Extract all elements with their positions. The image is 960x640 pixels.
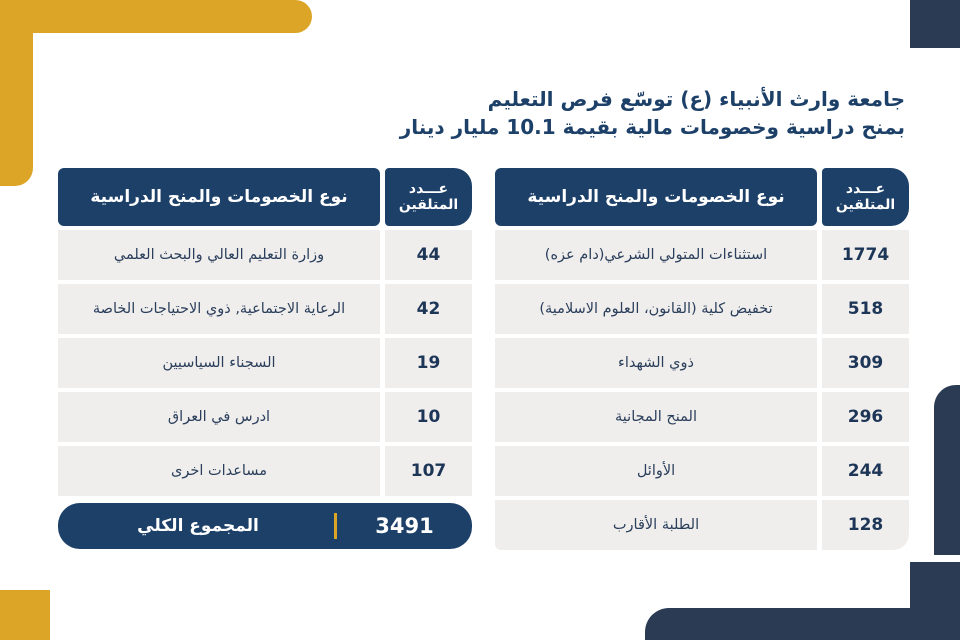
row-count-value: 10 [385, 392, 472, 442]
row-type-label: السجناء السياسيين [58, 338, 380, 388]
row-count-value: 107 [385, 446, 472, 496]
table-left-header-count-line-1: عـــدد [399, 181, 458, 197]
row-count-value: 44 [385, 230, 472, 280]
table-right-header-count-line-1: عـــدد [836, 181, 895, 197]
row-type-label: استثناءات المتولي الشرعي(دام عزه) [495, 230, 817, 280]
infographic-canvas: جامعة وارث الأنبياء (ع) توسّع فرص التعلي… [0, 0, 960, 640]
row-type-label: وزارة التعليم العالي والبحث العلمي [58, 230, 380, 280]
row-count-value: 128 [822, 500, 909, 550]
table-right-header-count-line-2: المتلقين [836, 197, 895, 213]
total-label: المجموع الكلي [58, 516, 334, 536]
table-row: تخفيض كلية (القانون، العلوم الاسلامية) 5… [495, 284, 909, 334]
headline-line-1: جامعة وارث الأنبياء (ع) توسّع فرص التعلي… [285, 86, 905, 114]
table-row: الرعاية الاجتماعية, ذوي الاحتياجات الخاص… [58, 284, 472, 334]
table-left-header-count: عـــدد المتلقين [385, 168, 472, 226]
table-row: المنح المجانية 296 [495, 392, 909, 442]
row-count-value: 1774 [822, 230, 909, 280]
table-row: الأوائل 244 [495, 446, 909, 496]
table-row: ذوي الشهداء 309 [495, 338, 909, 388]
row-type-label: الأوائل [495, 446, 817, 496]
table-row: مساعدات اخرى 107 [58, 446, 472, 496]
table-left-header-count-line-2: المتلقين [399, 197, 458, 213]
row-type-label: الرعاية الاجتماعية, ذوي الاحتياجات الخاص… [58, 284, 380, 334]
decor-navy-top-right [910, 0, 960, 48]
decor-gold-top-left-vertical [0, 0, 33, 186]
headline-line-2: بمنح دراسية وخصومات مالية بقيمة 10.1 ملي… [285, 114, 905, 142]
row-type-label: مساعدات اخرى [58, 446, 380, 496]
decor-navy-right-middle [934, 385, 960, 555]
table-left-header-row: نوع الخصومات والمنح الدراسية عـــدد المت… [58, 168, 472, 226]
table-row: الطلبة الأقارب 128 [495, 500, 909, 550]
row-type-label: ذوي الشهداء [495, 338, 817, 388]
decor-gold-top-left-horizontal [0, 0, 312, 33]
table-row: ادرس في العراق 10 [58, 392, 472, 442]
total-row: المجموع الكلي 3491 [58, 503, 472, 549]
row-type-label: ادرس في العراق [58, 392, 380, 442]
headline: جامعة وارث الأنبياء (ع) توسّع فرص التعلي… [285, 86, 905, 141]
table-row: استثناءات المتولي الشرعي(دام عزه) 1774 [495, 230, 909, 280]
row-type-label: الطلبة الأقارب [495, 500, 817, 550]
row-count-value: 518 [822, 284, 909, 334]
table-row: السجناء السياسيين 19 [58, 338, 472, 388]
table-left: نوع الخصومات والمنح الدراسية عـــدد المت… [58, 168, 472, 549]
row-type-label: المنح المجانية [495, 392, 817, 442]
table-right-header-type: نوع الخصومات والمنح الدراسية [495, 168, 817, 226]
row-count-value: 42 [385, 284, 472, 334]
total-divider [334, 513, 337, 539]
table-right-header-count: عـــدد المتلقين [822, 168, 909, 226]
decor-navy-bottom-right-vertical [910, 562, 960, 640]
decor-gold-bottom-left [0, 590, 50, 640]
row-count-value: 244 [822, 446, 909, 496]
row-count-value: 309 [822, 338, 909, 388]
table-row: وزارة التعليم العالي والبحث العلمي 44 [58, 230, 472, 280]
table-right-header-row: نوع الخصومات والمنح الدراسية عـــدد المت… [495, 168, 909, 226]
row-count-value: 19 [385, 338, 472, 388]
row-count-value: 296 [822, 392, 909, 442]
table-left-header-type: نوع الخصومات والمنح الدراسية [58, 168, 380, 226]
row-type-label: تخفيض كلية (القانون، العلوم الاسلامية) [495, 284, 817, 334]
table-right: نوع الخصومات والمنح الدراسية عـــدد المت… [495, 168, 909, 550]
total-value: 3491 [337, 514, 472, 538]
